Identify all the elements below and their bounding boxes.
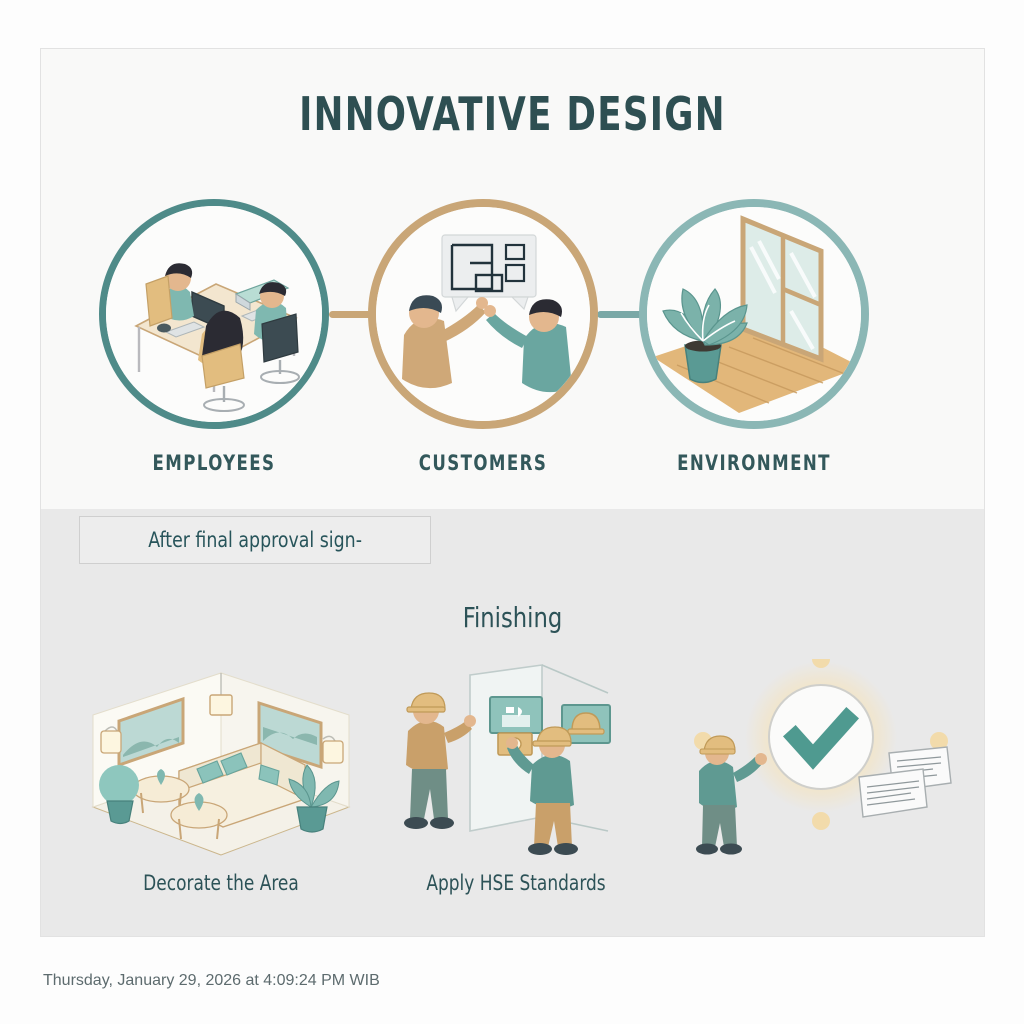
finishing-scene-row: Decorate the Area xyxy=(41,659,984,899)
scene-label-hse: Apply HSE Standards xyxy=(381,871,651,895)
scene-approval[interactable] xyxy=(681,659,981,859)
bottom-panel: After final approval sign- Finishing xyxy=(41,509,984,936)
page-title: INNOVATIVE DESIGN xyxy=(107,87,918,141)
living-room-isometric-icon xyxy=(71,659,371,859)
plant-window-room-icon xyxy=(639,199,869,429)
pillar-label-environment: ENVIRONMENT xyxy=(653,451,855,475)
floorplan-discussion-icon xyxy=(368,199,598,429)
poster-canvas: INNOVATIVE DESIGN xyxy=(0,0,1024,1024)
top-panel: INNOVATIVE DESIGN xyxy=(41,49,984,509)
safety-signage-install-icon xyxy=(366,659,666,859)
approval-checkmark-icon xyxy=(681,659,981,859)
footer-timestamp: Thursday, January 29, 2026 at 4:09:24 PM… xyxy=(43,972,380,990)
approval-note-box[interactable]: After final approval sign- xyxy=(79,516,431,564)
scene-apply-hse[interactable]: Apply HSE Standards xyxy=(366,659,666,859)
scene-decorate-area[interactable]: Decorate the Area xyxy=(71,659,371,859)
pillar-row: EMPLOYEES xyxy=(41,199,984,429)
section-heading-finishing: Finishing xyxy=(88,601,937,634)
poster-frame: INNOVATIVE DESIGN xyxy=(40,48,985,937)
office-workers-icon xyxy=(99,199,329,429)
pillar-environment[interactable]: ENVIRONMENT xyxy=(639,199,869,429)
approval-note-text: After final approval sign- xyxy=(148,528,362,552)
pillar-label-employees: EMPLOYEES xyxy=(113,451,315,475)
pillar-customers[interactable]: CUSTOMERS xyxy=(368,199,598,429)
pillar-employees[interactable]: EMPLOYEES xyxy=(99,199,329,429)
pillar-label-customers: CUSTOMERS xyxy=(382,451,584,475)
scene-label-decorate: Decorate the Area xyxy=(86,871,356,895)
